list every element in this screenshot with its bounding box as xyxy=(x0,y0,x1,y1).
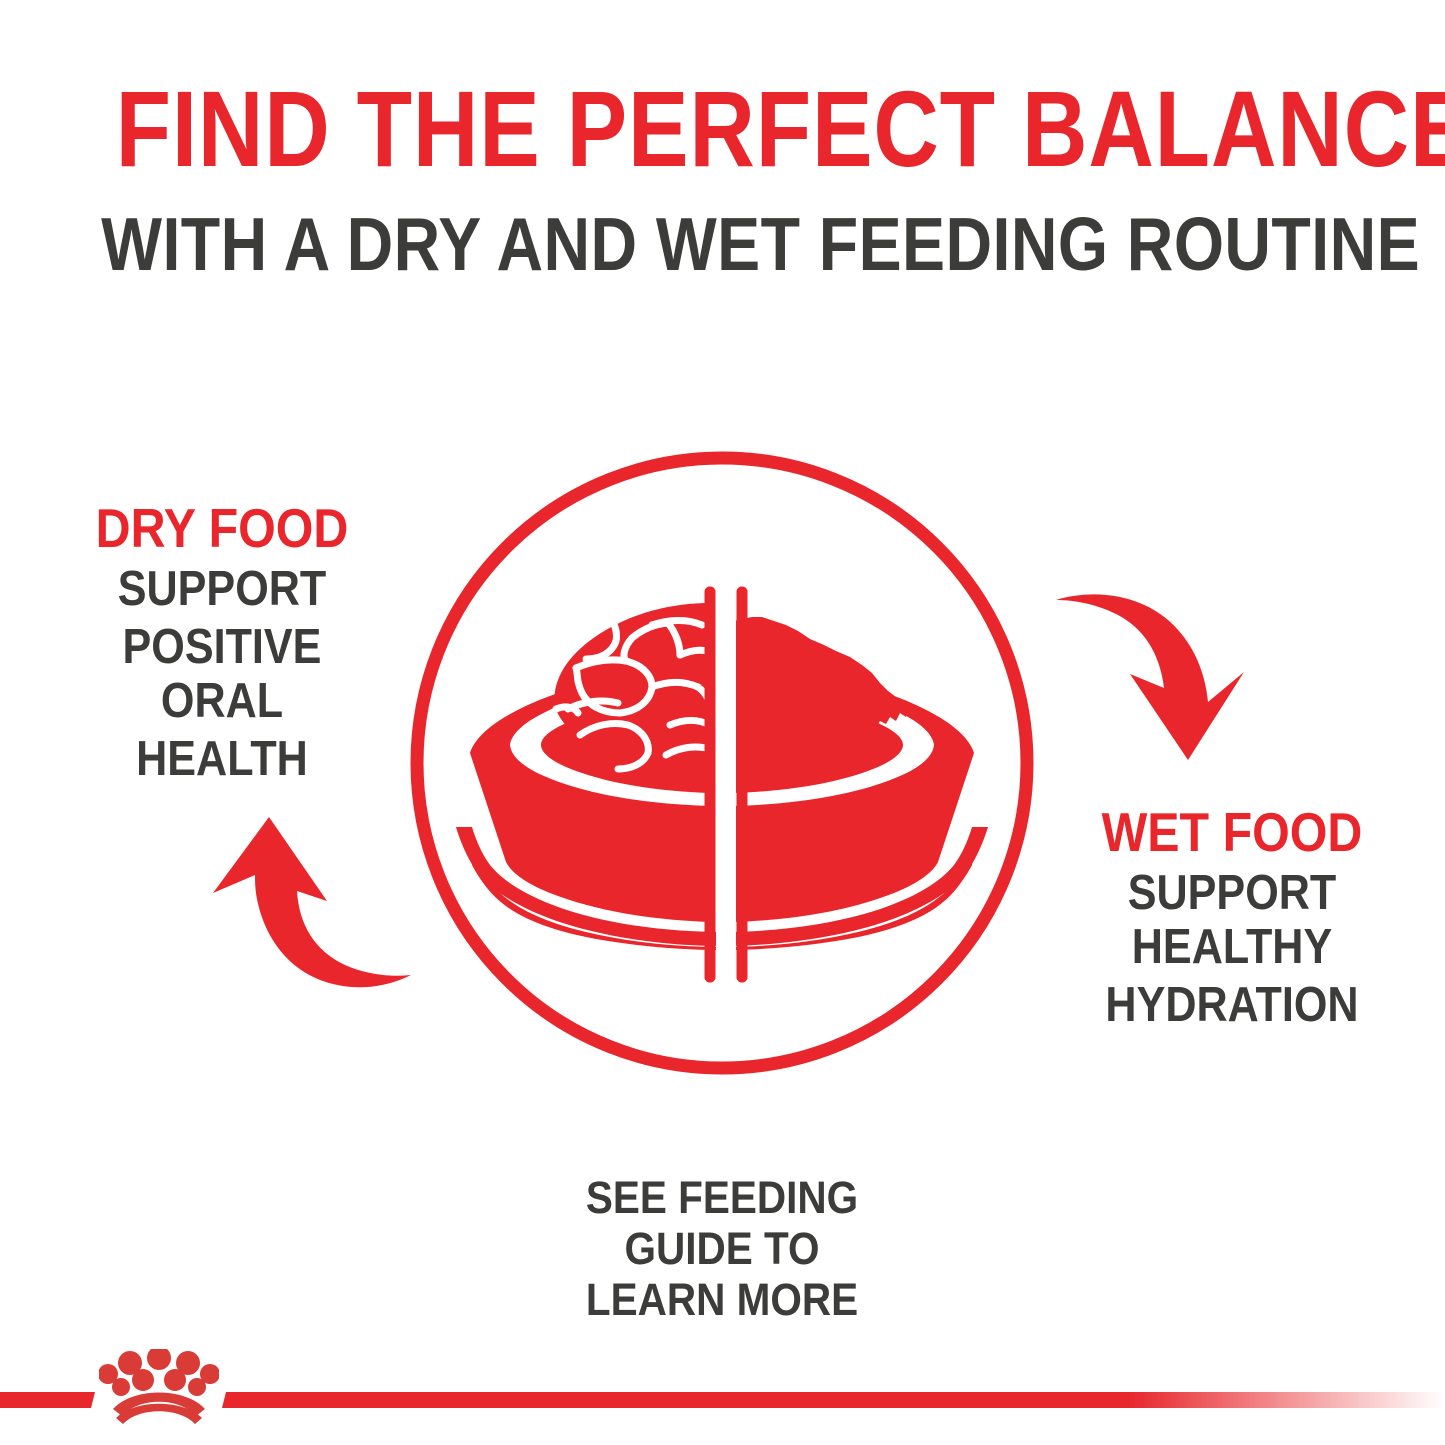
dry-food-title: DRY FOOD xyxy=(64,498,381,558)
feeding-guide-line-3: LEARN MORE xyxy=(542,1274,902,1325)
dry-food-line-2: POSITIVE ORAL xyxy=(64,620,381,728)
page-title: FIND THE PERFECT BALANCE xyxy=(116,70,1330,188)
pet-bowl-icon xyxy=(456,592,988,977)
footer-bar-right-icon xyxy=(222,1392,1445,1408)
wet-food-caption: WET FOOD SUPPORT HEALTHY HYDRATION xyxy=(1032,802,1432,1032)
bowl-right-half xyxy=(734,617,974,922)
curved-arrow-up-left-icon xyxy=(213,817,411,987)
footer-bar-left-icon xyxy=(0,1392,95,1408)
wet-food-line-1: SUPPORT HEALTHY xyxy=(1056,866,1408,974)
dry-food-line-1: SUPPORT xyxy=(64,562,381,616)
feeding-guide-caption: SEE FEEDING GUIDE TO LEARN MORE xyxy=(522,1172,922,1325)
wet-food-line-2: HYDRATION xyxy=(1056,978,1408,1032)
feeding-guide-line-2: GUIDE TO xyxy=(542,1223,902,1274)
vertical-divider-icon xyxy=(710,592,742,977)
feeding-guide-line-1: SEE FEEDING xyxy=(542,1172,902,1223)
footer xyxy=(0,1335,1445,1445)
infographic-page: FIND THE PERFECT BALANCE WITH A DRY AND … xyxy=(0,0,1445,1445)
heading-block: FIND THE PERFECT BALANCE WITH A DRY AND … xyxy=(0,70,1445,288)
dry-food-arrow xyxy=(185,775,445,1015)
bowl-left-half xyxy=(470,603,710,922)
dry-food-caption: DRY FOOD SUPPORT POSITIVE ORAL HEALTH xyxy=(42,498,402,786)
wet-food-arrow xyxy=(1048,578,1298,813)
page-subtitle: WITH A DRY AND WET FEEDING ROUTINE xyxy=(101,200,1344,288)
split-bowl-illustration xyxy=(380,425,1060,1105)
royal-canin-crown-logo xyxy=(99,1349,219,1425)
curved-arrow-down-right-icon xyxy=(1056,594,1244,760)
